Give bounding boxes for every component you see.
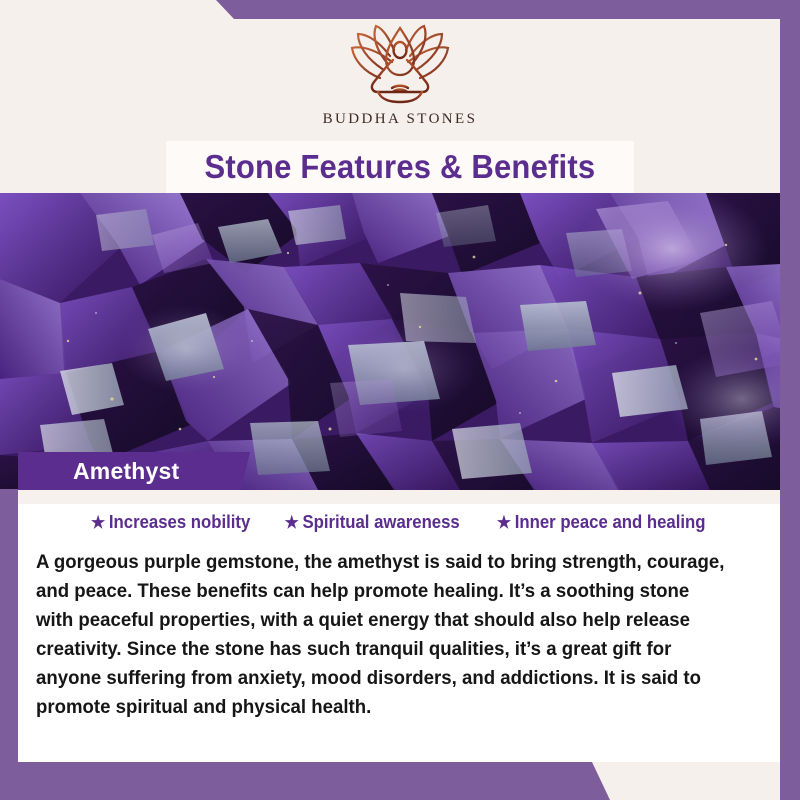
amethyst-crystal-cluster-photo (0, 193, 800, 490)
frame-bottom-bar (0, 762, 800, 800)
frame-left-bar (0, 489, 18, 800)
star-icon: ★ (91, 514, 105, 531)
title-plate: Stone Features & Benefits (166, 141, 634, 193)
brand-logo: BUDDHA STONES (0, 22, 800, 128)
benefit-label: Inner peace and healing (514, 512, 705, 533)
details-panel: ★ Increases nobility ★ Spiritual awarene… (18, 490, 780, 762)
benefits-row: ★ Increases nobility ★ Spiritual awarene… (18, 512, 780, 533)
brand-name: BUDDHA STONES (323, 111, 478, 128)
frame-right-bar (780, 0, 800, 800)
stone-name-banner: Amethyst (18, 452, 250, 490)
star-icon: ★ (497, 514, 511, 531)
benefit-label: Increases nobility (109, 512, 250, 533)
stone-name: Amethyst (73, 458, 179, 485)
lotus-meditation-icon (330, 22, 470, 108)
product-info-card: BUDDHA STONES Stone Features & Benefits (0, 0, 800, 800)
page-title: Stone Features & Benefits (205, 148, 596, 186)
benefit-item: ★ Inner peace and healing (497, 512, 706, 533)
header: BUDDHA STONES Stone Features & Benefits (0, 0, 800, 193)
benefit-item: ★ Increases nobility (91, 512, 250, 533)
panel-top-strip (18, 490, 780, 504)
stone-description: A gorgeous purple gemstone, the amethyst… (36, 548, 731, 722)
star-icon: ★ (285, 514, 299, 531)
benefit-item: ★ Spiritual awareness (285, 512, 460, 533)
benefit-label: Spiritual awareness (303, 512, 460, 533)
